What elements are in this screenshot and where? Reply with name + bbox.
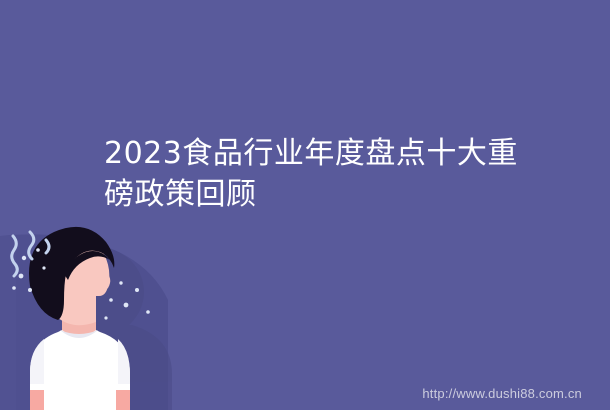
banner-image: 2023食品行业年度盘点十大重 磅政策回顾 http://www.dushi88…	[0, 0, 610, 410]
right-sleeve-hem	[116, 384, 130, 390]
tshirt	[30, 330, 130, 410]
title-line-2: 磅政策回顾	[104, 174, 534, 215]
page-title: 2023食品行业年度盘点十大重 磅政策回顾	[104, 133, 534, 215]
watermark-url: http://www.dushi88.com.cn	[422, 386, 582, 401]
left-sleeve-hem	[30, 384, 44, 390]
title-line-1: 2023食品行业年度盘点十大重	[104, 133, 534, 174]
